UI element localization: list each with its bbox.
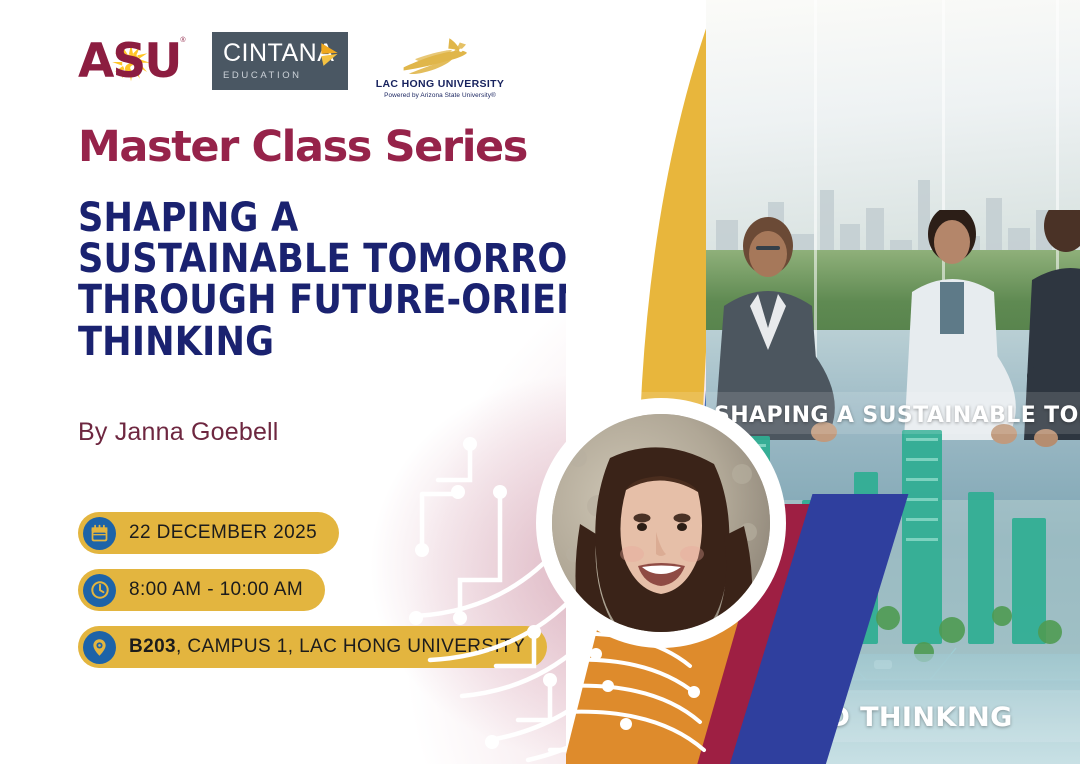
speaker-portrait-image: [552, 414, 770, 632]
calendar-icon: [83, 517, 116, 550]
asu-wordmark: ASU: [78, 38, 180, 85]
hero-image-panel: SHAPING A SUSTAINABLE TOMORROW ENTED THI…: [566, 0, 1080, 764]
detail-location-rest: , CAMPUS 1, LAC HONG UNIVERSITY: [176, 636, 525, 657]
series-label: Master Class Series: [78, 126, 527, 169]
asu-registered-mark: ®: [180, 37, 185, 44]
title-line-4: THINKING: [78, 322, 518, 363]
detail-date-text: 22 DECEMBER 2025: [129, 522, 317, 544]
clock-icon: [83, 574, 116, 607]
poster-canvas: ASU ® CINTANA EDUCATION: [0, 0, 1080, 764]
lac-hong-logo: LAC HONG UNIVERSITY Powered by Arizona S…: [374, 23, 506, 99]
lac-hong-bird-icon: [388, 36, 492, 78]
detail-location-room: B203: [129, 636, 176, 657]
cintana-logo: CINTANA EDUCATION: [212, 32, 348, 90]
event-details-list: 22 DECEMBER 2025 8:00 AM - 10:00 AM: [78, 512, 547, 668]
cintana-arrow-icon: [319, 42, 341, 68]
page-title: SHAPING A SUSTAINABLE TOMORROW THROUGH F…: [78, 198, 518, 363]
lac-hong-subtitle: Powered by Arizona State University®: [384, 92, 496, 99]
speaker-portrait: [536, 398, 786, 648]
title-line-1: SHAPING A: [78, 198, 518, 239]
logo-row: ASU ® CINTANA EDUCATION: [78, 22, 506, 100]
speaker-byline: By Janna Goebell: [78, 418, 279, 447]
location-pin-icon: [83, 631, 116, 664]
detail-date: 22 DECEMBER 2025: [78, 512, 339, 554]
detail-location: B203, CAMPUS 1, LAC HONG UNIVERSITY: [78, 626, 547, 668]
asu-logo: ASU ®: [78, 33, 186, 89]
speaker-face: [552, 414, 770, 632]
cintana-subtitle: EDUCATION: [223, 70, 348, 81]
title-line-2: SUSTAINABLE TOMORROW: [78, 239, 518, 280]
detail-time: 8:00 AM - 10:00 AM: [78, 569, 325, 611]
lac-hong-name: LAC HONG UNIVERSITY: [376, 79, 505, 91]
detail-location-text: B203, CAMPUS 1, LAC HONG UNIVERSITY: [129, 636, 525, 658]
detail-time-text: 8:00 AM - 10:00 AM: [129, 579, 303, 601]
title-line-3: THROUGH FUTURE-ORIENTED: [78, 280, 518, 321]
